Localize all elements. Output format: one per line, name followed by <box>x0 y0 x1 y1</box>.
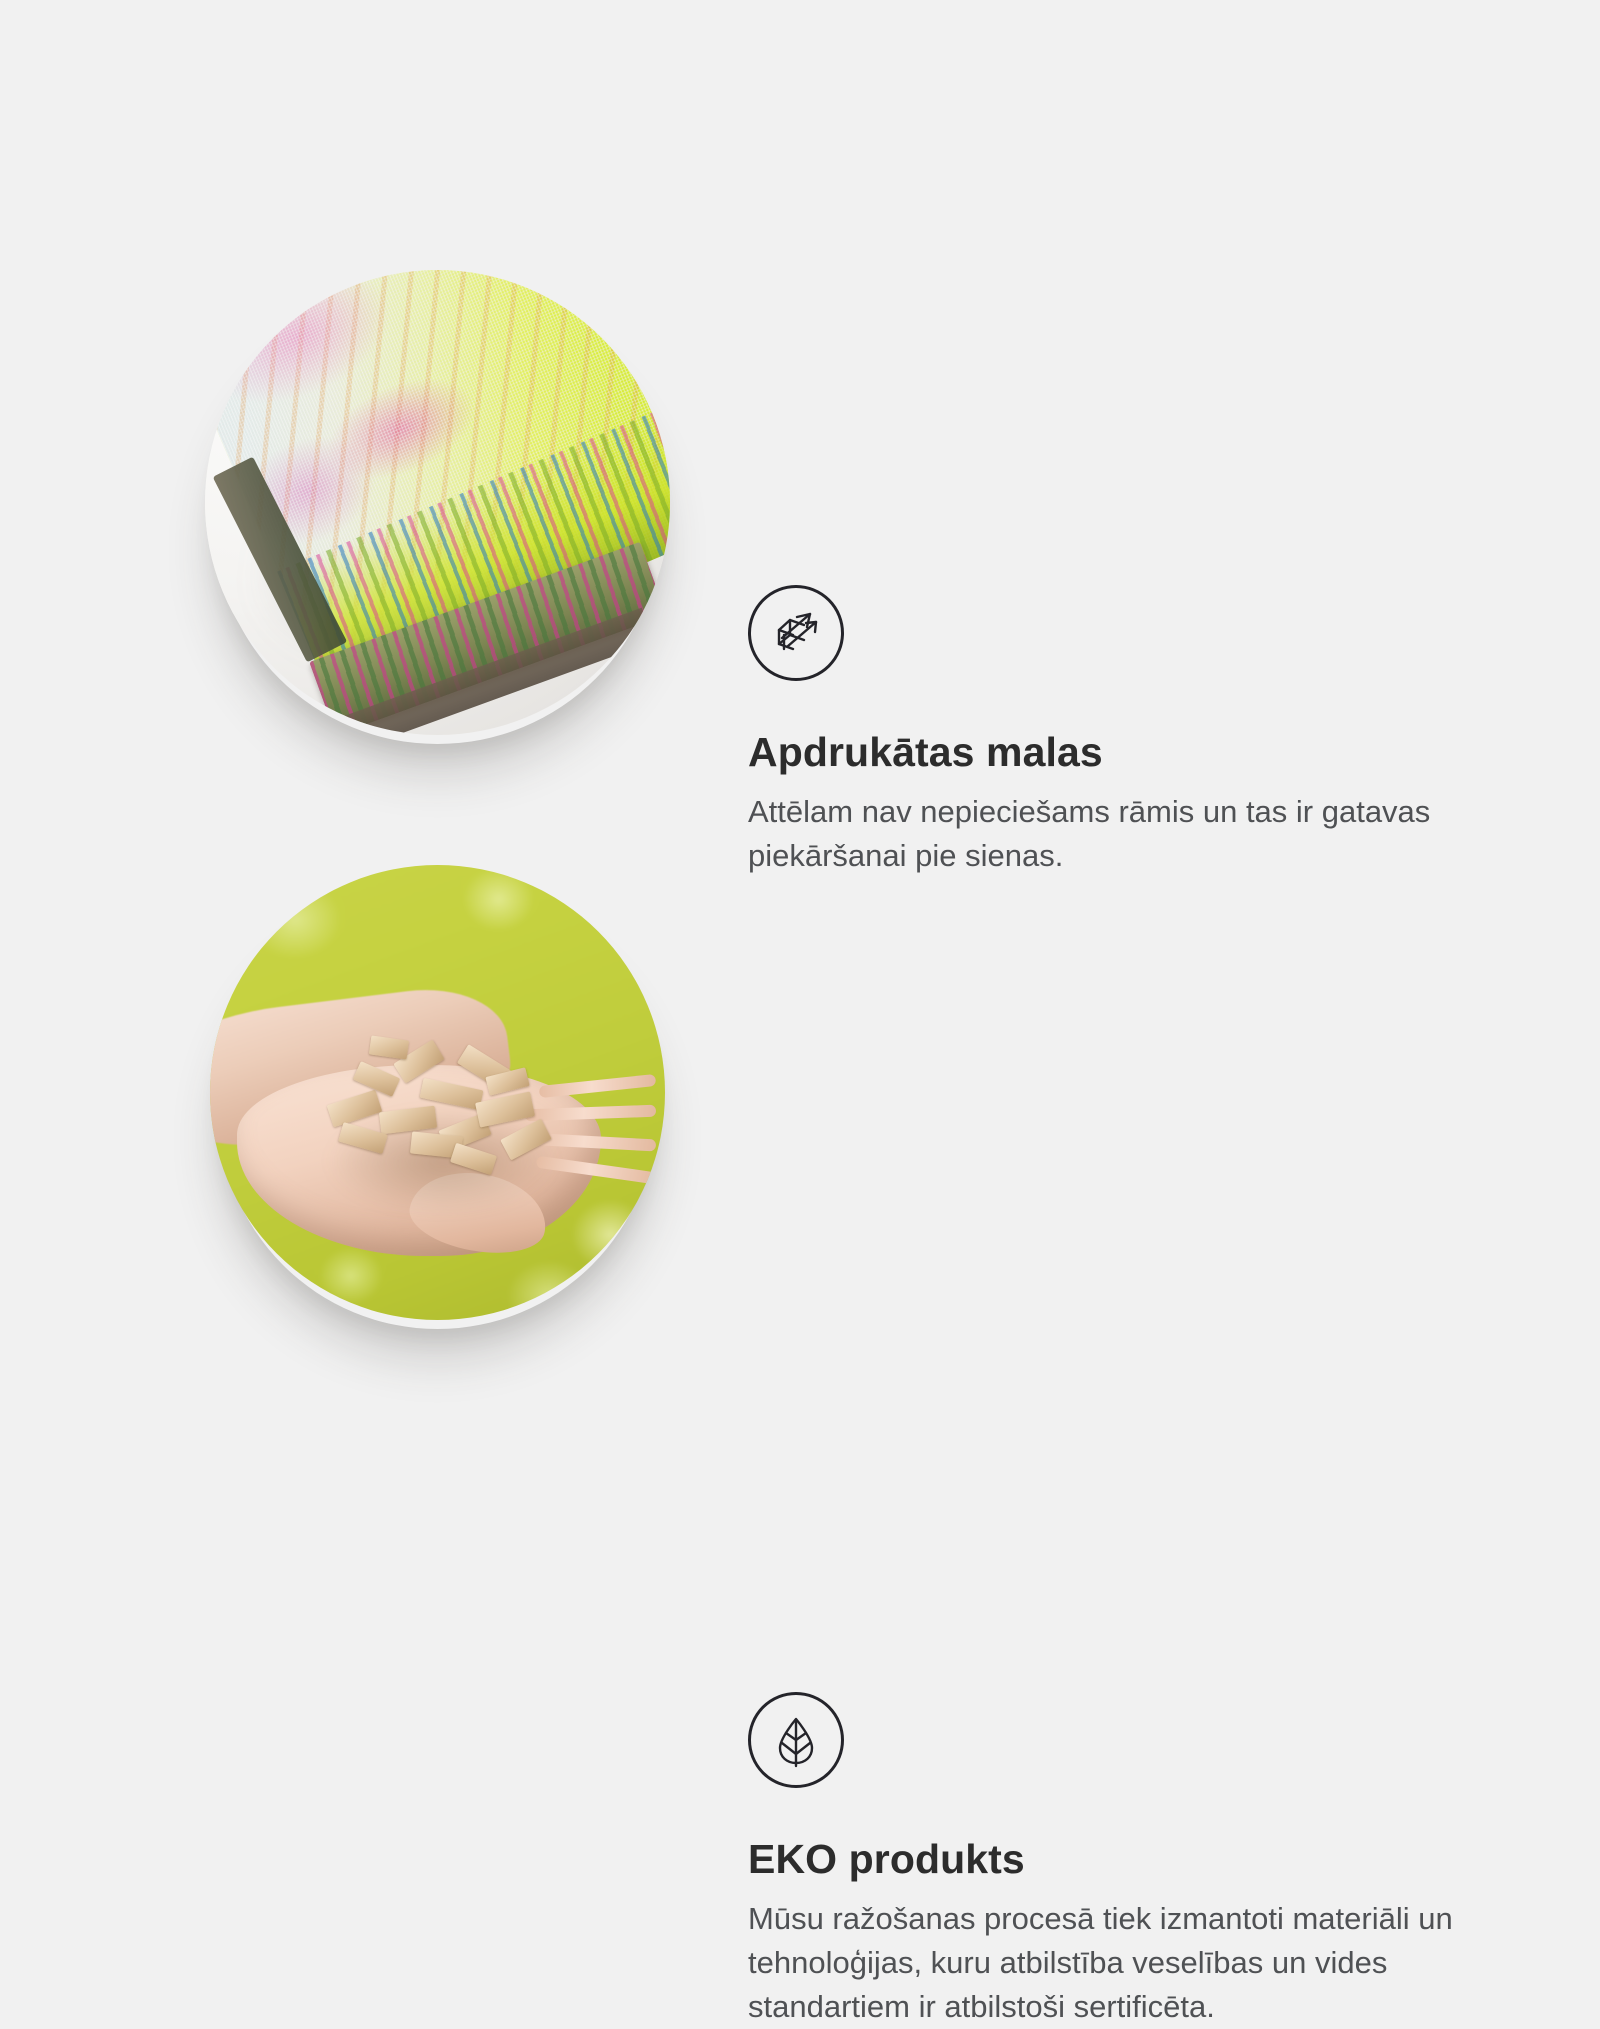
canvas-photo <box>205 270 670 735</box>
printed-edge-arrows-icon <box>748 585 844 681</box>
hands-holding-wood-chips-photo <box>210 865 665 1320</box>
feature-printed-edges: Apdrukātas malas Attēlam nav nepieciešam… <box>0 240 1600 800</box>
canvas-print-corner-photo <box>205 270 670 735</box>
feature-title: Apdrukātas malas <box>748 729 1488 776</box>
feature-description: Mūsu ražošanas procesā tiek izmantoti ma… <box>748 1897 1468 2029</box>
media-circle <box>205 270 670 735</box>
leaf-icon <box>748 1692 844 1788</box>
feature-eco-product: EKO produkts Mūsu ražošanas procesā tiek… <box>0 830 1600 1390</box>
feature-list: Apdrukātas malas Attēlam nav nepieciešam… <box>0 0 1600 1600</box>
feature-text-eco-product: EKO produkts Mūsu ražošanas procesā tiek… <box>748 1692 1488 2029</box>
feature-title: EKO produkts <box>748 1836 1488 1883</box>
media-circle <box>210 865 665 1320</box>
eco-photo <box>210 865 665 1320</box>
wood-chips <box>319 1038 574 1193</box>
